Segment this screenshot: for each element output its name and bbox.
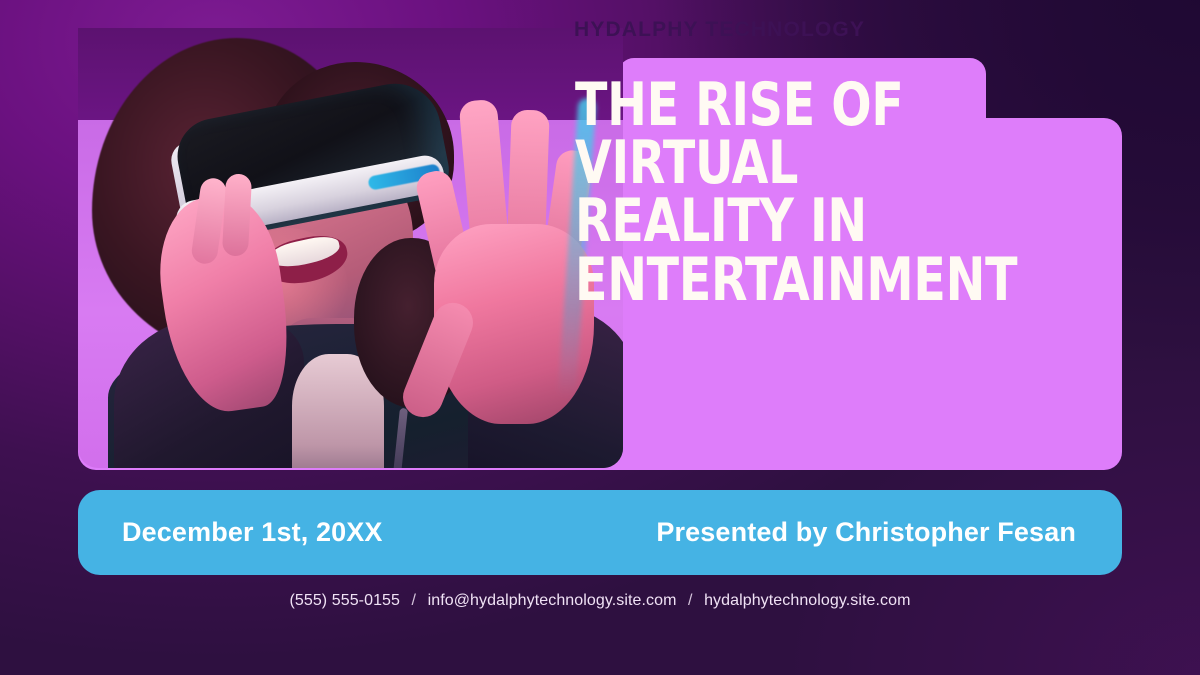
- title-line-4: ENTERTAINMENT: [575, 251, 971, 309]
- presenter-name: Presented by Christopher Fesan: [656, 517, 1076, 548]
- presentation-slide: HYDALPHY TECHNOLOGY: [0, 0, 1200, 675]
- title-line-2: VIRTUAL: [575, 134, 971, 192]
- contact-website[interactable]: hydalphytechnology.site.com: [704, 592, 910, 609]
- left-hand-finger-2: [222, 173, 252, 256]
- info-bar: December 1st, 20XX Presented by Christop…: [78, 490, 1122, 575]
- contact-phone: (555) 555-0155: [289, 592, 400, 609]
- event-date: December 1st, 20XX: [122, 517, 383, 548]
- contact-email[interactable]: info@hydalphytechnology.site.com: [428, 592, 677, 609]
- footer-separator-1: /: [405, 592, 424, 609]
- title-line-1: THE RISE OF: [575, 76, 971, 134]
- title-line-3: REALITY IN: [575, 192, 971, 250]
- brand-name: HYDALPHY TECHNOLOGY: [574, 18, 865, 42]
- contact-footer: (555) 555-0155 / info@hydalphytechnology…: [0, 592, 1200, 610]
- footer-separator-2: /: [681, 592, 700, 609]
- slide-title: THE RISE OF VIRTUAL REALITY IN ENTERTAIN…: [575, 76, 971, 309]
